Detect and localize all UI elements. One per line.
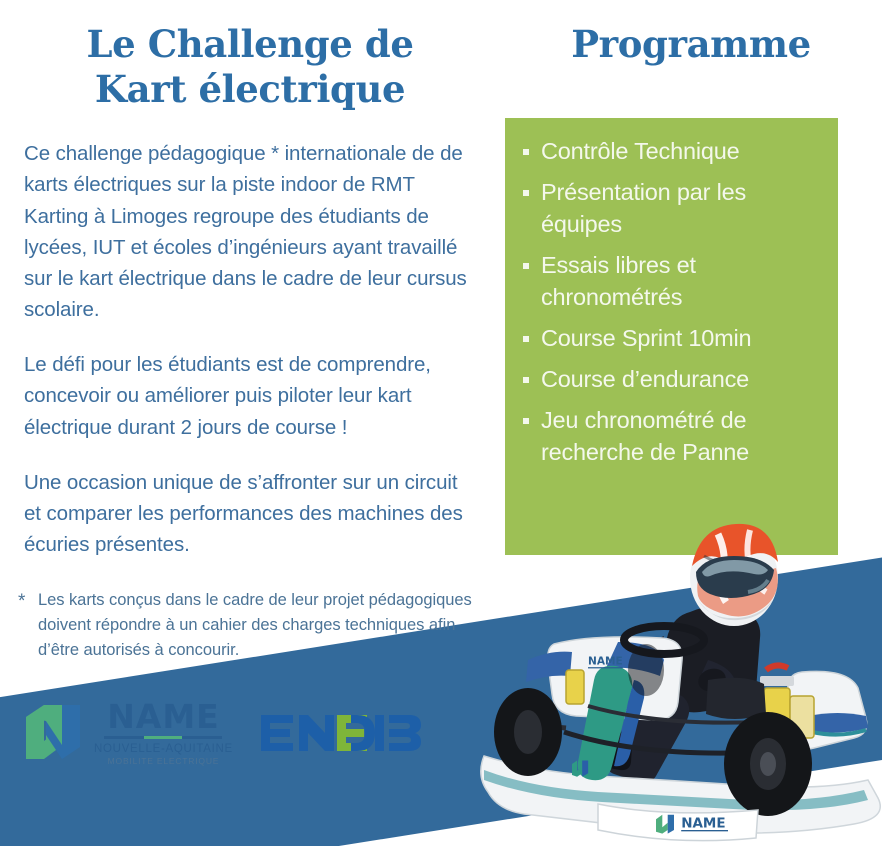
programme-title: Programme [500, 0, 882, 66]
page-title-line-2: Kart électrique [95, 67, 405, 111]
right-column: Programme [500, 0, 882, 66]
programme-item: Jeu chronométré de recherche de Panne [519, 405, 826, 469]
bullet-square-icon [523, 263, 529, 269]
page-title: Le Challenge de Kart électrique [0, 0, 500, 112]
name-monogram-icon [22, 701, 84, 768]
programme-item: Présentation par les équipes [519, 177, 826, 241]
bullet-square-icon [523, 377, 529, 383]
programme-item-label: Course Sprint 10min [541, 325, 751, 351]
paragraph-1: Ce challenge pédagogique * international… [24, 138, 478, 325]
bullet-square-icon [523, 149, 529, 155]
body-text-block: Ce challenge pédagogique * international… [0, 112, 500, 560]
poster-root: Le Challenge de Kart électrique Ce chall… [0, 0, 882, 846]
footnote: * Les karts conçus dans le cadre de leur… [0, 560, 500, 662]
programme-list: Contrôle Technique Présentation par les … [505, 118, 838, 469]
left-column: Le Challenge de Kart électrique Ce chall… [0, 0, 500, 662]
programme-item-label: Contrôle Technique [541, 138, 739, 164]
name-subtitle-region: NOUVELLE-AQUITAINE [94, 742, 233, 756]
programme-panel: Contrôle Technique Présentation par les … [505, 118, 838, 555]
name-logo: NAME NOUVELLE-AQUITAINE MOBILITE ELECTRI… [22, 700, 233, 768]
page-title-line-1: Le Challenge de [86, 22, 413, 66]
name-logo-rule [104, 736, 222, 739]
footnote-text: Les karts conçus dans le cadre de leur p… [38, 588, 478, 662]
programme-item: Contrôle Technique [519, 136, 826, 168]
enedis-logo [259, 707, 441, 762]
programme-item-label: Présentation par les équipes [541, 179, 746, 237]
logo-row: NAME NOUVELLE-AQUITAINE MOBILITE ELECTRI… [22, 700, 441, 768]
bullet-square-icon [523, 190, 529, 196]
svg-text:NAME: NAME [588, 656, 623, 668]
programme-item-label: Essais libres et chronométrés [541, 252, 696, 310]
paragraph-2: Le défi pour les étudiants est de compre… [24, 349, 478, 442]
paragraph-3: Une occasion unique de s’affronter sur u… [24, 467, 478, 560]
programme-item-label: Jeu chronométré de recherche de Panne [541, 407, 749, 465]
bullet-square-icon [523, 336, 529, 342]
kart-driver-photo: NAME NAME [468, 520, 882, 846]
svg-text:NAME: NAME [681, 815, 725, 831]
programme-item: Essais libres et chronométrés [519, 250, 826, 314]
programme-item: Course Sprint 10min [519, 323, 826, 355]
programme-item: Course d’endurance [519, 364, 826, 396]
programme-item-label: Course d’endurance [541, 366, 749, 392]
name-subtitle-tagline: MOBILITE ELECTRIQUE [108, 756, 220, 768]
name-wordmark: NAME [107, 700, 220, 733]
footnote-asterisk: * [18, 588, 38, 662]
bullet-square-icon [523, 418, 529, 424]
name-wordmark-group: NAME NOUVELLE-AQUITAINE MOBILITE ELECTRI… [94, 700, 233, 768]
